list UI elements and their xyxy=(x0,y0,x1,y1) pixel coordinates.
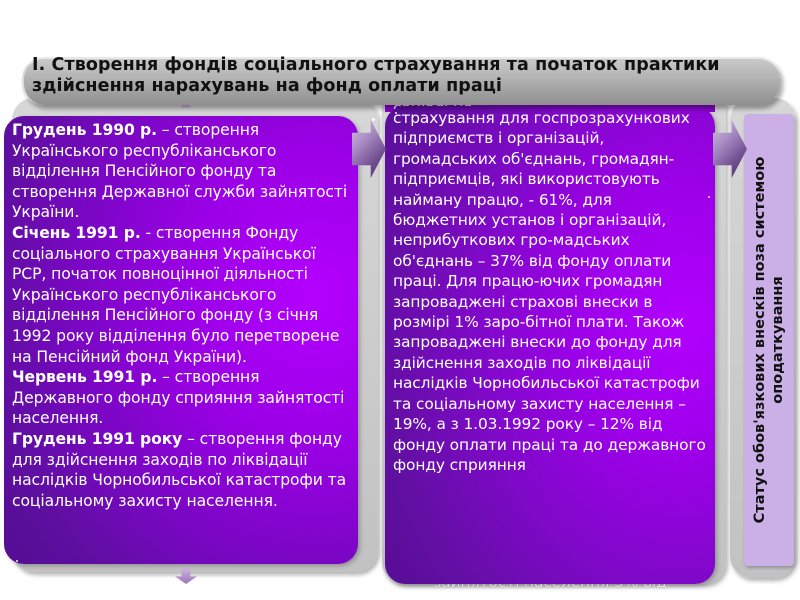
timeline-entry-lead: Січень 1991 р. xyxy=(12,224,141,242)
middle-contributions-card: страхування для госпрозрахункових підпри… xyxy=(385,106,715,584)
page-title: I. Створення фондів соціального страхува… xyxy=(32,55,774,97)
timeline-entry-lead: Грудень 1990 р. xyxy=(12,121,157,139)
right-status-card-label: Статус обов'язкових внесків поза системо… xyxy=(744,114,794,566)
sparkle-icon xyxy=(372,118,375,121)
sparkle-icon xyxy=(708,196,710,198)
timeline-entry: Грудень 1990 р. – створення Українського… xyxy=(12,120,350,223)
left-timeline-card: Грудень 1990 р. – створення Українського… xyxy=(4,116,358,564)
timeline-entry: Січень 1991 р. - створення Фонду соціаль… xyxy=(12,223,350,367)
timeline-entry-body: - створення Фонду соціального страхуванн… xyxy=(12,224,339,366)
timeline-entry-lead: Грудень 1991 року xyxy=(12,430,182,448)
sparkle-icon xyxy=(16,560,18,562)
left-card-text: Грудень 1990 р. – створення Українського… xyxy=(4,116,358,511)
slide-title-bar: I. Створення фондів соціального страхува… xyxy=(22,57,780,105)
timeline-entry: Грудень 1991 року – створення фонду для … xyxy=(12,429,350,511)
sparkle-icon xyxy=(395,112,397,114)
right-status-card: Статус обов'язкових внесків поза системо… xyxy=(744,114,794,566)
timeline-entry: Червень 1991 р. – створення Державного ф… xyxy=(12,367,350,429)
timeline-entry-lead: Червень 1991 р. xyxy=(12,368,157,386)
middle-card-text: страхування для госпрозрахункових підпри… xyxy=(385,106,715,475)
